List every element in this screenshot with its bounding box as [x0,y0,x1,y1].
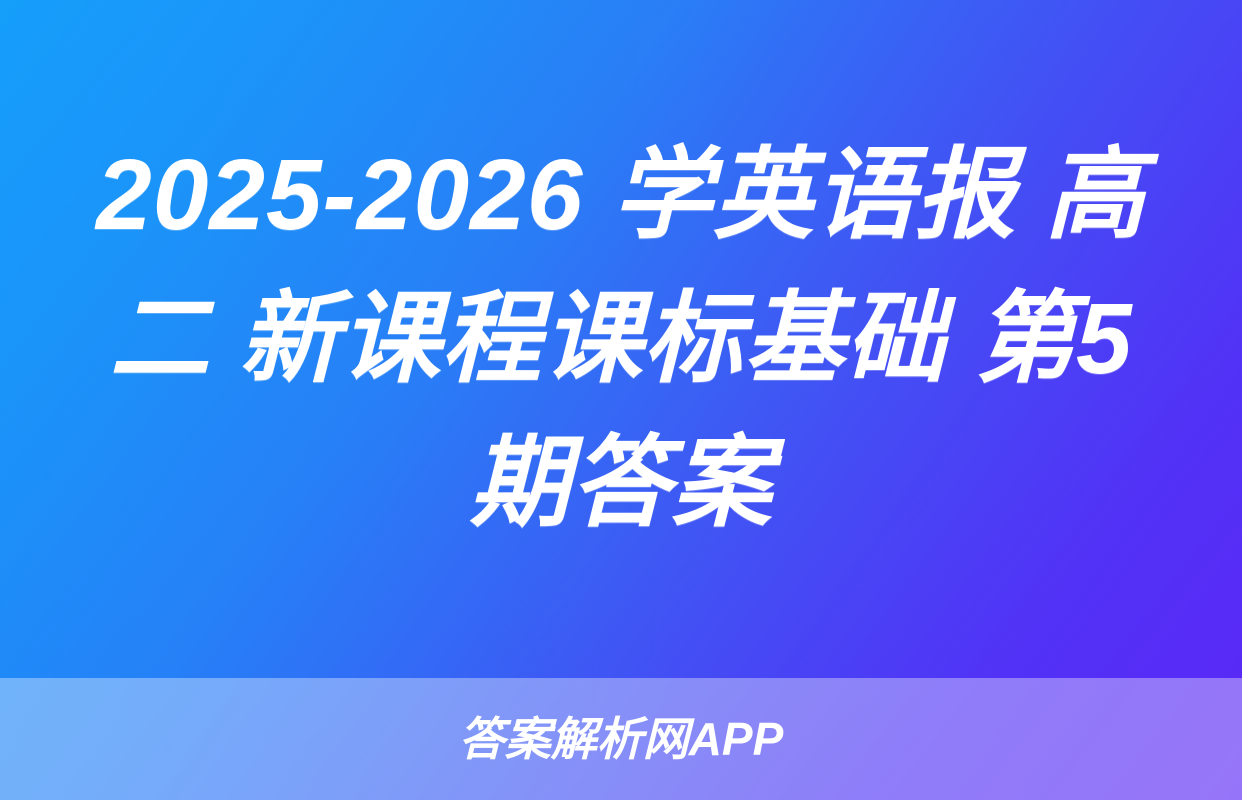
page-title: 2025-2026 学英语报 高二 新课程课标基础 第5期答案 [66,123,1176,555]
headline-container: 2025-2026 学英语报 高二 新课程课标基础 第5期答案 [0,0,1242,678]
footer-watermark-band: 答案解析网APP [0,678,1242,800]
poster-canvas: 2025-2026 学英语报 高二 新课程课标基础 第5期答案 答案解析网APP [0,0,1242,800]
app-brand-label: 答案解析网APP [459,716,784,762]
